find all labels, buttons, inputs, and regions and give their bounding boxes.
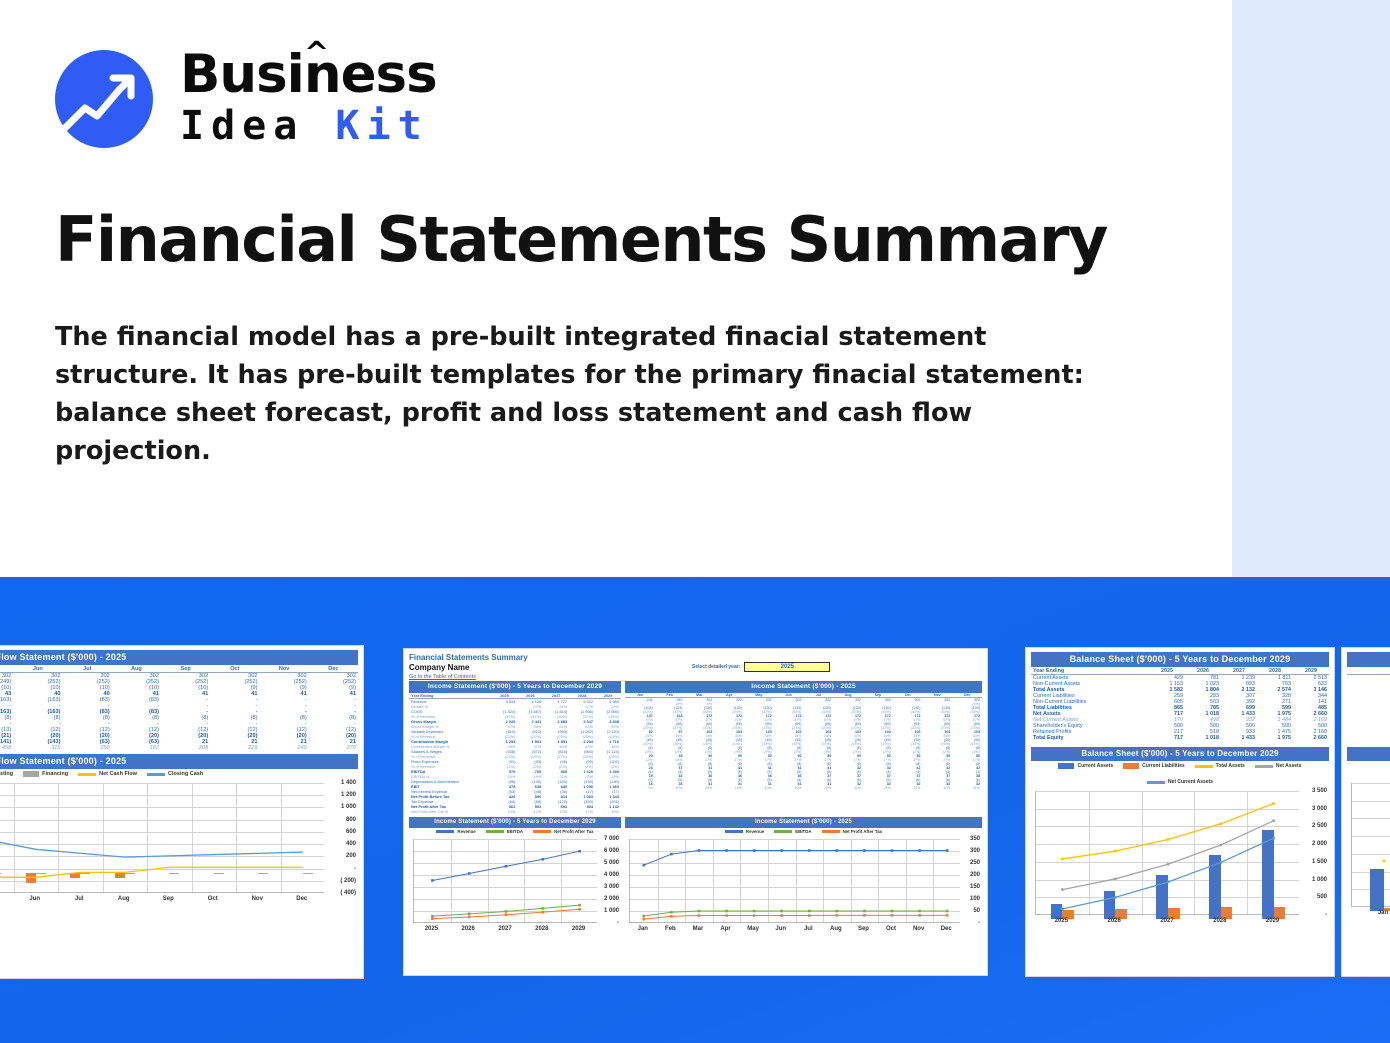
table-cell: 19% [595, 809, 621, 814]
y-axis-tick: 4 000 [604, 872, 619, 878]
chart-series-layer [414, 839, 598, 923]
balance-sheet-table-title: Balance Sheet ($'000) - 5 Years to Decem… [1031, 652, 1329, 667]
chart-line [644, 915, 947, 919]
legend-item: Revenue [725, 829, 764, 834]
chart-line [644, 851, 947, 866]
table-cell: 10% [774, 786, 804, 790]
chart-marker [468, 913, 471, 916]
table-cell: 15% [543, 809, 569, 814]
chart-marker [780, 910, 783, 913]
table-cell: 1 018 [1185, 735, 1221, 741]
brand-name-primary: Business ^ [180, 48, 437, 101]
chart-marker [642, 915, 645, 918]
x-axis-tick: Jun [775, 926, 786, 932]
table-cell: 1 433 [1221, 735, 1257, 741]
chart-marker [891, 910, 894, 913]
chart-marker [891, 849, 894, 852]
x-axis-tick: Aug [830, 926, 842, 932]
table-cell: 250 [63, 745, 112, 751]
legend-item: Current Assets [1058, 763, 1113, 769]
chart-marker [698, 849, 701, 852]
table-cell: 7% [625, 786, 655, 790]
chart-marker [863, 914, 866, 917]
x-axis-tick: 2027 [498, 926, 511, 932]
legend-label: Closing Cash [168, 771, 203, 777]
legend-item: EBITDA [486, 829, 523, 834]
circumflex-accent-icon: ^ [304, 39, 328, 69]
legend-swatch [147, 773, 165, 776]
chart-series-layer [1352, 783, 1390, 907]
x-axis-tick: Dec [941, 926, 952, 932]
y-axis-tick: 300 [970, 848, 980, 854]
monthly-income-statement-table: JanFebMarAprMayJunJulAugSepOctNovDec2412… [625, 693, 982, 790]
y-axis-tick: 2 500 [1312, 823, 1327, 829]
table-cell: 717 [1149, 735, 1185, 741]
chart-series-layer [630, 839, 961, 923]
chart-line [0, 841, 303, 858]
table-cell: 512 [1347, 735, 1390, 741]
y-axis-tick: 800 [346, 817, 356, 823]
chart-line [1062, 804, 1273, 859]
table-cell: 10% [685, 786, 715, 790]
x-axis-tick: 2025 [425, 926, 438, 932]
chart-marker [698, 914, 701, 917]
chart-marker [808, 849, 811, 852]
legend-swatch [533, 830, 551, 833]
y-axis-tick: 150 [970, 884, 980, 890]
cash-flow-table-title: Cash Flow Statement ($'000) - 2025 [0, 650, 358, 665]
legend-swatch [1147, 781, 1165, 784]
chart-marker [946, 914, 949, 917]
chart-marker [836, 910, 839, 913]
chart-marker [808, 914, 811, 917]
chart-marker [542, 911, 545, 914]
chart-marker [1383, 860, 1386, 863]
table-cell: 315 [13, 745, 62, 751]
y-axis-tick: - [1325, 912, 1327, 918]
y-axis-tick: ( 400) [340, 890, 356, 896]
chart-marker [946, 849, 949, 852]
table-cell: 11% [833, 786, 863, 790]
legend-swatch [436, 830, 454, 833]
legend-swatch [1255, 765, 1273, 768]
x-axis-tick: Aug [118, 896, 130, 902]
chart-marker [1061, 888, 1064, 891]
legend-item: EBITDA [774, 829, 811, 834]
chart-marker [753, 849, 756, 852]
legend-label: EBITDA [795, 829, 811, 834]
chart-marker [542, 907, 545, 910]
chart-marker [753, 914, 756, 917]
chart-marker [891, 914, 894, 917]
chart-marker [542, 858, 545, 861]
chart-marker [1220, 844, 1223, 847]
y-axis-tick: 6 000 [604, 848, 619, 854]
balance-sheet-monthly-table: Jan1 1741241 297936927865121 08150012512 [1347, 668, 1390, 741]
y-axis-tick: 400 [346, 841, 356, 847]
chart-line [1062, 838, 1273, 909]
chart-marker [431, 915, 434, 918]
chart-marker [1114, 896, 1117, 899]
legend-swatch [774, 830, 792, 833]
chart-marker [1114, 850, 1117, 853]
annual-income-chart-legend: RevenueEBITDANet Profit After Tax [409, 829, 621, 834]
chart-marker [505, 910, 508, 913]
chart-marker [725, 914, 728, 917]
chart-marker [1114, 878, 1117, 881]
cash-flow-chart-legend: InvestingFinancingNet Cash FlowClosing C… [0, 771, 358, 777]
chart-marker [1272, 802, 1275, 805]
x-axis-tick: 2029 [572, 926, 585, 932]
balance-sheet-chart: 3 5003 0002 5002 0001 5001 000500-202520… [1031, 787, 1329, 929]
table-cell: 270 [309, 745, 358, 751]
table-cell: 10% [655, 786, 685, 790]
monthly-income-chart-legend: RevenueEBITDANet Profit After Tax [625, 829, 982, 834]
chart-marker [725, 910, 728, 913]
x-axis-tick: Jul [75, 896, 84, 902]
table-cell: 208 [161, 745, 210, 751]
chart-marker [780, 914, 783, 917]
x-axis-tick: Oct [208, 896, 218, 902]
chart-marker [578, 850, 581, 853]
x-axis-tick: Sep [163, 896, 174, 902]
screenshot-balance-sheet[interactable]: Balance Sheet ($'000) - 5 Years to Decem… [1025, 647, 1335, 977]
x-axis-tick: Nov [252, 896, 263, 902]
legend-item: Investing [0, 771, 13, 777]
chart-line [0, 867, 303, 877]
x-axis-tick: 2026 [1108, 918, 1121, 924]
y-axis-tick: - [354, 866, 356, 872]
brand-name-secondary: Idea Kit [180, 103, 437, 149]
annual-income-chart: 7 0006 0005 0004 0003 0002 0001 000-2025… [409, 835, 621, 937]
legend-item: Revenue [436, 829, 475, 834]
legend-label: Revenue [746, 829, 764, 834]
legend-item: Net Cash Flow [78, 771, 137, 777]
chart-marker [836, 849, 839, 852]
y-axis-tick: 100 [970, 896, 980, 902]
x-axis-tick: Jan [1378, 910, 1388, 916]
legend-label: Financing [42, 771, 68, 777]
legend-item: Net Profit After Tax [533, 829, 594, 834]
y-axis-tick: - [978, 920, 980, 926]
y-axis-tick: 1 500 [1312, 859, 1327, 865]
x-axis-tick: May [747, 926, 759, 932]
legend-label: Total Assets [1216, 763, 1245, 769]
chart-marker [1061, 908, 1064, 911]
select-year-label: Select detailed year: [692, 664, 740, 670]
legend-swatch [486, 830, 504, 833]
x-axis-tick: 2028 [1213, 918, 1226, 924]
x-axis-tick: Jan [638, 926, 648, 932]
chart-marker [468, 916, 471, 919]
legend-item: Financing [23, 771, 68, 777]
table-row: Net Profit After Tax %10%12%15%17%19% [409, 809, 621, 814]
chart-marker [1220, 823, 1223, 826]
legend-label: Revenue [457, 829, 475, 834]
summary-doc-title: Financial Statements Summary [409, 653, 982, 662]
row-label: Total Equity [1031, 735, 1149, 741]
chart-marker [836, 914, 839, 917]
chart-marker [1167, 863, 1170, 866]
y-axis-tick: 600 [346, 829, 356, 835]
table-cell: 249 [260, 745, 309, 751]
y-axis-tick: 3 000 [604, 884, 619, 890]
chart-marker [1220, 861, 1223, 864]
chart-marker [698, 910, 701, 913]
x-axis-tick: Apr [720, 926, 730, 932]
chart-marker [808, 910, 811, 913]
hero-section: Business ^ Idea Kit Financial Statements… [0, 0, 1390, 577]
chart-marker [1061, 858, 1064, 861]
chart-marker [670, 915, 673, 918]
table-cell: 12% [517, 809, 543, 814]
legend-swatch [23, 771, 39, 777]
chart-marker [918, 910, 921, 913]
chart-series-layer [0, 783, 325, 893]
x-axis-tick: Oct [886, 926, 896, 932]
balance-sheet-chart-title: Balance Sheet ($'000) - 5 Years to Decem… [1031, 747, 1329, 761]
chart-marker [642, 918, 645, 921]
annual-income-statement-table: Year Ending20252026202720282029Revenue3 … [409, 693, 621, 814]
chart-marker [1272, 819, 1275, 822]
table-of-contents-link[interactable]: Go to the Table of Contents [409, 674, 982, 680]
chart-marker [431, 917, 434, 920]
y-axis-tick: 1 000 [341, 804, 356, 810]
table-cell: 10% [804, 786, 834, 790]
x-axis-tick: 2027 [1160, 918, 1173, 924]
cash-flow-table: MayJunJulAugSepOctNovDec3023023023023023… [0, 666, 358, 751]
table-cell: 11% [923, 786, 953, 790]
table-cell: 187 [112, 745, 161, 751]
cash-flow-chart: InvestingFinancingNet Cash FlowClosing C… [0, 771, 358, 907]
legend-label: Investing [0, 771, 13, 777]
balance-sheet-table: Year Ending20252026202720282029Current A… [1031, 668, 1329, 741]
x-axis-tick: 2025 [1055, 918, 1068, 924]
y-axis-tick: 7 000 [604, 836, 619, 842]
balance-sheet-monthly-chart: 3 5003 0002 5002 0001 5001 000500-Jan [1347, 779, 1390, 921]
table-cell: 11% [893, 786, 923, 790]
trend-arrow-icon [55, 50, 153, 148]
table-cell: 11% [863, 786, 893, 790]
y-axis-tick: 500 [1317, 894, 1327, 900]
chart-marker [863, 910, 866, 913]
table-cell: 1 975 [1257, 735, 1293, 741]
chart-marker [918, 849, 921, 852]
monthly-income-chart-title: Income Statement ($'000) - 2025 [625, 817, 982, 828]
chart-marker [1272, 837, 1275, 840]
legend-swatch [1123, 763, 1139, 769]
y-axis-tick: 1 000 [604, 908, 619, 914]
y-axis-tick: 2 000 [604, 896, 619, 902]
legend-label: Net Profit After Tax [843, 829, 883, 834]
screenshot-cash-flow[interactable]: Cash Flow Statement ($'000) - 2025 MayJu… [0, 645, 364, 979]
x-axis-tick: 2029 [1266, 918, 1279, 924]
legend-label: Current Liabilities [1142, 763, 1185, 769]
table-row: 512 [1347, 735, 1390, 741]
legend-label: Net Profit After Tax [554, 829, 594, 834]
legend-item: Closing Cash [147, 771, 203, 777]
chart-marker [725, 849, 728, 852]
chart-marker [918, 914, 921, 917]
legend-item: Net Assets [1255, 763, 1302, 769]
select-year-input[interactable]: 2025 [744, 662, 830, 672]
y-axis-tick: ( 200) [340, 878, 356, 884]
cash-flow-chart-title: Cash Flow Statement ($'000) - 2025 [0, 754, 358, 769]
table-cell: 10% [714, 786, 744, 790]
chart-marker [578, 908, 581, 911]
table-cell: 229 [210, 745, 259, 751]
x-axis-tick: Mar [693, 926, 704, 932]
legend-item: Current Liabilities [1123, 763, 1185, 769]
chart-marker [578, 904, 581, 907]
x-axis-tick: Nov [913, 926, 924, 932]
x-axis-tick: Feb [665, 926, 676, 932]
chart-marker [670, 853, 673, 856]
chart-line [1062, 821, 1273, 890]
brand-name-idea: Idea [180, 103, 335, 149]
chart-marker [468, 872, 471, 875]
chart-marker [1167, 881, 1170, 884]
chart-marker [670, 911, 673, 914]
chart-marker [753, 910, 756, 913]
x-axis-tick: Jul [804, 926, 813, 932]
table-row: 458315250187208229249270 [0, 745, 358, 751]
y-axis-tick: 350 [970, 836, 980, 842]
page-title: Financial Statements Summary [55, 203, 1107, 276]
y-axis-tick: 200 [346, 853, 356, 859]
decorative-side-panel [1232, 0, 1390, 577]
y-axis-tick: 5 000 [604, 860, 619, 866]
monthly-income-statement-title: Income Statement ($'000) - 2025 [625, 681, 982, 693]
chart-marker [505, 865, 508, 868]
y-axis-tick: 50 [973, 908, 980, 914]
legend-swatch [1195, 765, 1213, 768]
chart-marker [946, 910, 949, 913]
annual-income-statement-title: Income Statement ($'000) - 5 Years to De… [409, 681, 621, 693]
page-description: The financial model has a pre-built inte… [55, 318, 1095, 470]
y-axis-tick: 1 000 [1312, 877, 1327, 883]
legend-item: Total Assets [1195, 763, 1245, 769]
y-axis-tick: 250 [970, 860, 980, 866]
annual-income-chart-title: Income Statement ($'000) - 5 Years to De… [409, 817, 621, 828]
y-axis-tick: 1 400 [341, 780, 356, 786]
legend-label: Net Current Assets [1168, 779, 1213, 785]
x-axis-tick: Sep [858, 926, 869, 932]
chart-series-layer [1036, 791, 1300, 915]
table-cell: 10% [744, 786, 774, 790]
table-cell: 11% [952, 786, 982, 790]
x-axis-tick: 2028 [535, 926, 548, 932]
legend-label: Current Assets [1077, 763, 1113, 769]
legend-item: Net Current Assets [1147, 779, 1213, 785]
screenshot-balance-sheet-monthly[interactable]: Jan1 1741241 297936927865121 08150012512… [1341, 647, 1390, 977]
y-axis-tick: 200 [970, 872, 980, 878]
x-axis-tick: Dec [296, 896, 307, 902]
y-axis-tick: 3 000 [1312, 806, 1327, 812]
chart-marker [431, 879, 434, 882]
legend-swatch [725, 830, 743, 833]
x-axis-tick: Jun [29, 896, 40, 902]
row-label: Net Profit After Tax % [409, 809, 492, 814]
table-row: Total Equity7171 0181 4331 9752 660 [1031, 735, 1329, 741]
table-cell: 458 [0, 745, 13, 751]
table-cell: 2 660 [1293, 735, 1329, 741]
legend-label: Net Assets [1276, 763, 1302, 769]
legend-label: Net Cash Flow [99, 771, 137, 777]
table-row: 7%10%10%10%10%10%10%11%11%11%11%11% [625, 786, 982, 790]
y-axis-tick: 1 200 [341, 792, 356, 798]
y-axis-tick: - [617, 920, 619, 926]
chart-marker [1167, 838, 1170, 841]
screenshot-financial-summary[interactable]: Financial Statements Summary Company Nam… [403, 648, 988, 976]
balance-sheet-chart-legend: Current AssetsCurrent LiabilitiesTotal A… [1031, 763, 1329, 785]
legend-swatch [822, 830, 840, 833]
legend-swatch [1058, 763, 1074, 769]
y-axis-tick: 2 000 [1312, 841, 1327, 847]
brand-name-kit: Kit [335, 103, 428, 149]
brand-logo: Business ^ Idea Kit [55, 48, 437, 149]
chart-marker [780, 849, 783, 852]
chart-marker [505, 913, 508, 916]
x-axis-tick: 2026 [462, 926, 475, 932]
y-axis-tick: 3 500 [1312, 788, 1327, 794]
legend-swatch [78, 773, 96, 776]
table-cell: 17% [569, 809, 595, 814]
legend-label: EBITDA [507, 829, 523, 834]
monthly-income-chart: 35030025020015010050-JanFebMarAprMayJunJ… [625, 835, 982, 937]
legend-item: Net Profit After Tax [822, 829, 883, 834]
chart-marker [863, 849, 866, 852]
chart-marker [642, 864, 645, 867]
table-cell: 10% [492, 809, 518, 814]
